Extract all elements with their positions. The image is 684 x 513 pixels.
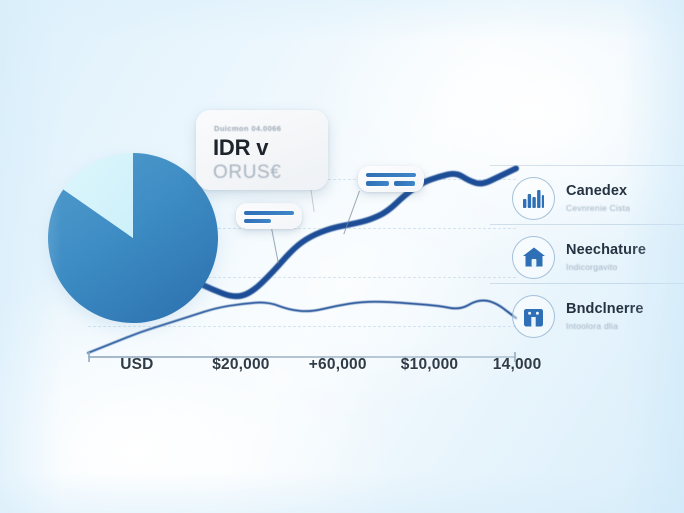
axis-label-1: $20,000 xyxy=(212,356,269,374)
legend-divider-1 xyxy=(490,224,684,225)
legend-title-0: Canedex xyxy=(566,183,630,200)
legend-text-group-2: BndclnerreIntoolora dlia xyxy=(566,301,644,331)
legend-item-2[interactable]: BndclnerreIntoolora dlia xyxy=(512,294,684,338)
tooltip-eyebrow-text: Duicmon 04.0066 xyxy=(214,124,281,133)
currency-tooltip-card[interactable]: Duicmon 04.0066 IDR v ORUS€ xyxy=(196,110,328,190)
legend-item-1[interactable]: NeechatureIndicorgavito xyxy=(512,235,684,279)
legend-subtitle-2: Intoolora dlia xyxy=(566,321,644,331)
house-icon xyxy=(512,236,555,279)
tooltip-currency-code: IDR v xyxy=(213,135,268,161)
tooltip-currency-symbols: ORUS€ xyxy=(213,162,281,184)
tooltip-bar-bottom-right xyxy=(394,181,415,186)
legend-panel: CanedexCevnrenie CistaNeechatureIndicorg… xyxy=(512,176,684,353)
legend-item-0[interactable]: CanedexCevnrenie Cista xyxy=(512,176,684,220)
bank-building-icon xyxy=(512,295,555,338)
tooltip-bar-secondary xyxy=(244,219,271,223)
tooltip-bar-primary xyxy=(244,211,294,215)
axis-label-3: $10,000 xyxy=(401,356,458,374)
pie-chart xyxy=(47,152,219,324)
x-axis-labels: USD$20,000+60,000$10,00014,000 xyxy=(88,356,548,384)
tooltip-bar-top xyxy=(366,173,416,177)
pie-slices xyxy=(47,152,219,324)
legend-divider-2 xyxy=(490,283,684,284)
legend-title-1: Neechature xyxy=(566,242,646,259)
axis-label-2: +60,000 xyxy=(309,356,367,374)
legend-text-group-1: NeechatureIndicorgavito xyxy=(566,242,646,272)
axis-label-4: 14,000 xyxy=(493,356,542,374)
legend-title-2: Bndclnerre xyxy=(566,301,644,318)
pie-chart-disc xyxy=(47,152,219,324)
axis-label-0: USD xyxy=(120,356,153,374)
legend-subtitle-0: Cevnrenie Cista xyxy=(566,203,630,213)
legend-divider-0 xyxy=(490,165,684,166)
bar-chart-icon xyxy=(512,177,555,220)
chart-tooltip-small-right[interactable] xyxy=(358,166,424,192)
illustration-canvas: Duicmon 04.0066 IDR v ORUS€ USD$20,000+6… xyxy=(0,0,684,513)
chart-tooltip-small-left[interactable] xyxy=(236,203,302,229)
legend-text-group-0: CanedexCevnrenie Cista xyxy=(566,183,630,213)
tooltip-bar-bottom-left xyxy=(366,181,389,186)
legend-subtitle-1: Indicorgavito xyxy=(566,262,646,272)
